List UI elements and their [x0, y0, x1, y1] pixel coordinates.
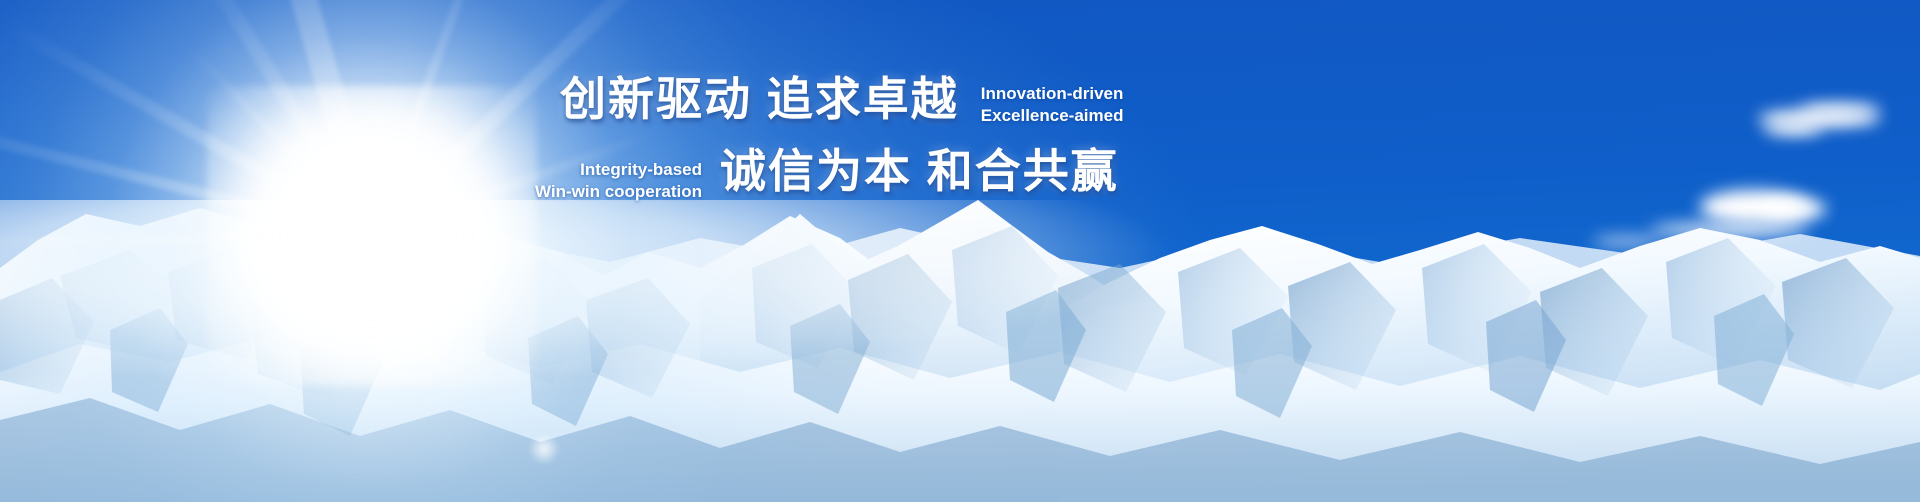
slogan-2-chinese: 诚信为本 和合共赢 — [720, 148, 1119, 194]
slogan-line-1: 创新驱动 追求卓越 Innovation-driven Excellence-a… — [560, 76, 1123, 127]
slogan-text-layer: 创新驱动 追求卓越 Innovation-driven Excellence-a… — [0, 0, 1920, 502]
slogan-1-chinese: 创新驱动 追求卓越 — [560, 76, 959, 122]
hero-banner: 创新驱动 追求卓越 Innovation-driven Excellence-a… — [0, 0, 1920, 502]
slogan-line-2: Integrity-based Win-win cooperation 诚信为本… — [430, 148, 1119, 203]
slogan-2-english-line-1: Integrity-based — [430, 159, 702, 181]
slogan-1-english-line-2: Excellence-aimed — [981, 105, 1124, 127]
slogan-2-english: Integrity-based Win-win cooperation — [430, 159, 702, 203]
slogan-1-english-line-1: Innovation-driven — [981, 83, 1124, 105]
slogan-1-english: Innovation-driven Excellence-aimed — [981, 83, 1124, 127]
slogan-2-english-line-2: Win-win cooperation — [430, 181, 702, 203]
